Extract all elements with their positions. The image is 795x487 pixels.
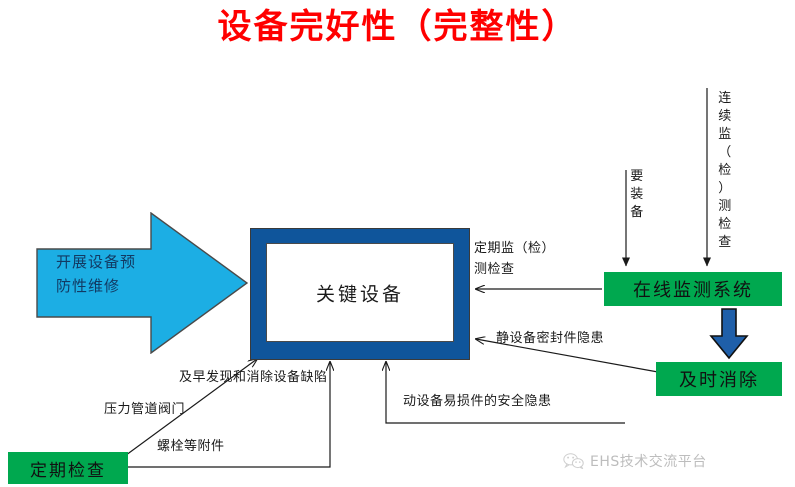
label-continuous-c8: 检 <box>717 216 733 234</box>
key-equipment-inner-panel: 关键设备 <box>266 243 454 342</box>
key-equipment-box: 关键设备 <box>250 228 470 360</box>
preventive-maintenance-label: 开展设备预 防性维修 <box>56 250 166 298</box>
watermark-text: EHS技术交流平台 <box>590 451 707 471</box>
label-continuous-c4: （ <box>717 144 733 162</box>
label-continuous-monitoring-check: 连 续 监 （ 检 ） 测 检 查 <box>717 90 733 252</box>
label-periodic-monitor-line2: 测检查 <box>474 259 578 280</box>
label-continuous-c2: 续 <box>717 108 733 126</box>
preventive-maintenance-arrow: 开展设备预 防性维修 <box>36 212 248 354</box>
watermark: EHS技术交流平台 <box>563 451 707 471</box>
label-bolts-and-fittings: 螺栓等附件 <box>157 437 225 457</box>
label-static-equipment-seal-hazard: 静设备密封件隐患 <box>496 329 604 349</box>
label-continuous-c1: 连 <box>717 90 733 108</box>
label-dynamic-equipment-wear-hazard: 动设备易损件的安全隐患 <box>403 392 552 412</box>
online-monitoring-system-box: 在线监测系统 <box>604 272 782 306</box>
timely-removal-box: 及时消除 <box>656 362 782 396</box>
label-continuous-c3: 监 <box>717 126 733 144</box>
label-need-equipment-c1: 要 <box>629 168 645 186</box>
label-continuous-c9: 查 <box>717 234 733 252</box>
down-arrow-icon <box>709 308 749 360</box>
wechat-icon <box>563 452 585 470</box>
slide-canvas: 设备完好性（完整性） 开展设备预 防性维修 关键设备 在线监测系统 及时消除 定… <box>0 0 795 487</box>
periodic-inspection-box: 定期检查 <box>8 452 128 484</box>
label-early-detect-remove-defect: 及早发现和消除设备缺陷 <box>179 368 328 388</box>
label-need-equipment-c3: 备 <box>629 204 645 222</box>
preventive-maintenance-line2: 防性维修 <box>56 274 166 298</box>
preventive-maintenance-line1: 开展设备预 <box>56 250 166 274</box>
label-continuous-c7: 测 <box>717 198 733 216</box>
label-need-equipment: 要 装 备 <box>629 168 645 222</box>
label-pressure-pipe-valve: 压力管道阀门 <box>104 400 185 420</box>
page-title: 设备完好性（完整性） <box>0 4 795 50</box>
label-periodic-monitor-check: 定期监（检） 测检查 <box>474 238 578 280</box>
label-periodic-monitor-line1: 定期监（检） <box>474 238 578 259</box>
label-need-equipment-c2: 装 <box>629 186 645 204</box>
label-continuous-c5: 检 <box>717 162 733 180</box>
label-continuous-c6: ） <box>717 180 733 198</box>
key-equipment-label: 关键设备 <box>267 279 453 306</box>
